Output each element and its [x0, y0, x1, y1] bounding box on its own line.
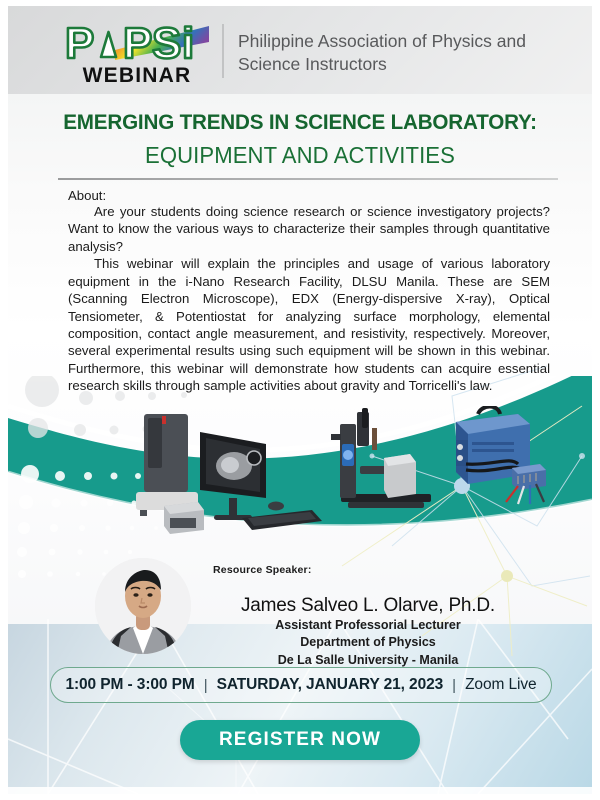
about-paragraph-2: This webinar will explain the principles…: [68, 255, 550, 394]
about-label: About:: [68, 188, 106, 203]
svg-text:P: P: [123, 20, 152, 66]
poster-header: P P S i WEBINAR Philippine Association o…: [8, 6, 592, 98]
header-divider: [222, 24, 224, 78]
papsi-logo: P P S i WEBINAR: [63, 20, 211, 90]
svg-text:S: S: [152, 20, 181, 66]
speaker-affiliation: Assistant Professorial Lecturer Departme…: [198, 617, 538, 669]
schedule-time: 1:00 PM - 3:00 PM: [65, 676, 194, 694]
logo-webinar-text: WEBINAR: [63, 64, 211, 88]
schedule-separator-2: |: [452, 677, 456, 694]
schedule-pill: 1:00 PM - 3:00 PM | SATURDAY, JANUARY 21…: [50, 667, 552, 703]
about-paragraph-1: Are your students doing science research…: [68, 203, 550, 255]
schedule-date: SATURDAY, JANUARY 21, 2023: [217, 676, 444, 694]
schedule-platform: Zoom Live: [465, 676, 536, 694]
speaker-role-line-2: Department of Physics: [198, 634, 538, 651]
title-line-1: EMERGING TRENDS IN SCIENCE LABORATORY:: [20, 110, 581, 135]
organization-name: Philippine Association of Physics and Sc…: [238, 30, 568, 77]
speaker-photo: [95, 558, 191, 654]
about-body: Are your students doing science research…: [68, 203, 550, 395]
webinar-poster: P P S i WEBINAR Philippine Association o…: [8, 6, 592, 794]
papsi-prism-logo-icon: P P S i: [63, 20, 211, 66]
speaker-role-line-1: Assistant Professorial Lecturer: [198, 617, 538, 634]
schedule-separator-1: |: [204, 677, 208, 694]
title-line-2: EQUIPMENT AND ACTIVITIES: [26, 142, 575, 169]
register-now-button[interactable]: REGISTER NOW: [180, 720, 420, 760]
svg-text:i: i: [182, 20, 194, 66]
laboratory-equipment-image: [126, 406, 546, 536]
svg-text:P: P: [65, 20, 94, 66]
speaker-name: James Salveo L. Olarve, Ph.D.: [198, 595, 538, 617]
resource-speaker-label: Resource Speaker:: [213, 564, 312, 576]
title-divider-rule: [58, 178, 558, 180]
